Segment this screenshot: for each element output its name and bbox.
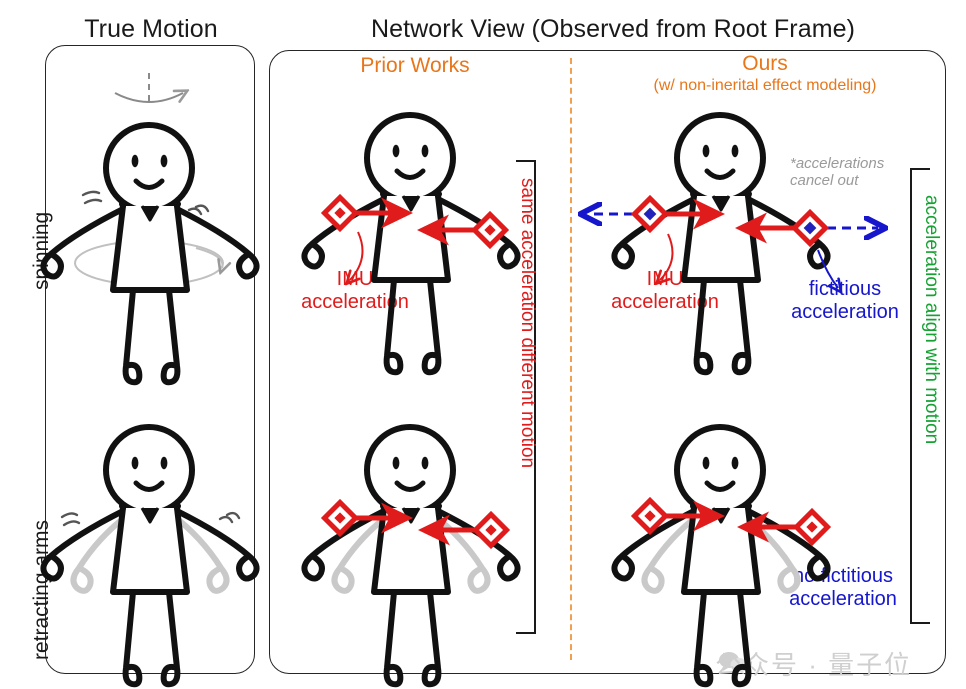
column-label-ours: Ours [600,52,930,76]
column-sublabel-ours: (w/ non-inerital effect modeling) [570,77,960,95]
page-title-true-motion: True Motion [46,15,256,44]
annotation-same-acceleration-different-motion: same acceleration different motion [516,178,538,468]
label-imu-acceleration-ours: IMU acceleration [600,268,730,314]
label-fictitious-acceleration: fictitious acceleration [770,278,920,324]
label-imu-line1-ours: IMU [600,268,730,291]
annotation-acceleration-align-with-motion: acceleration align with motion [920,195,942,444]
column-divider [570,58,572,660]
label-imu-line2-ours: acceleration [600,291,730,314]
panel-true-motion [45,45,255,674]
column-label-prior-works: Prior Works [275,54,555,78]
page-title-network-view: Network View (Observed from Root Frame) [268,15,958,44]
label-fictitious-line1: fictitious [770,278,920,301]
label-no-fictitious-line2: acceleration [768,588,918,611]
label-imu-acceleration-prior: IMU acceleration [290,268,420,314]
label-no-fictitious-acceleration: no fictitious acceleration [768,565,918,611]
label-imu-line2: acceleration [290,291,420,314]
note-accelerations-cancel-out: *accelerations cancel out [790,155,940,190]
label-no-fictitious-line1: no fictitious [768,565,918,588]
figure-root: True Motion Network View (Observed from … [0,0,966,689]
row-label-retracting-arms: retracting arms [30,520,54,660]
watermark-text: 公众号 · 量子位 [715,645,912,682]
label-fictitious-line2: acceleration [770,301,920,324]
row-label-spinning: spinning [30,212,54,290]
note-line2: cancel out [790,172,940,189]
label-imu-line1: IMU [290,268,420,291]
note-line1: *accelerations [790,155,940,172]
